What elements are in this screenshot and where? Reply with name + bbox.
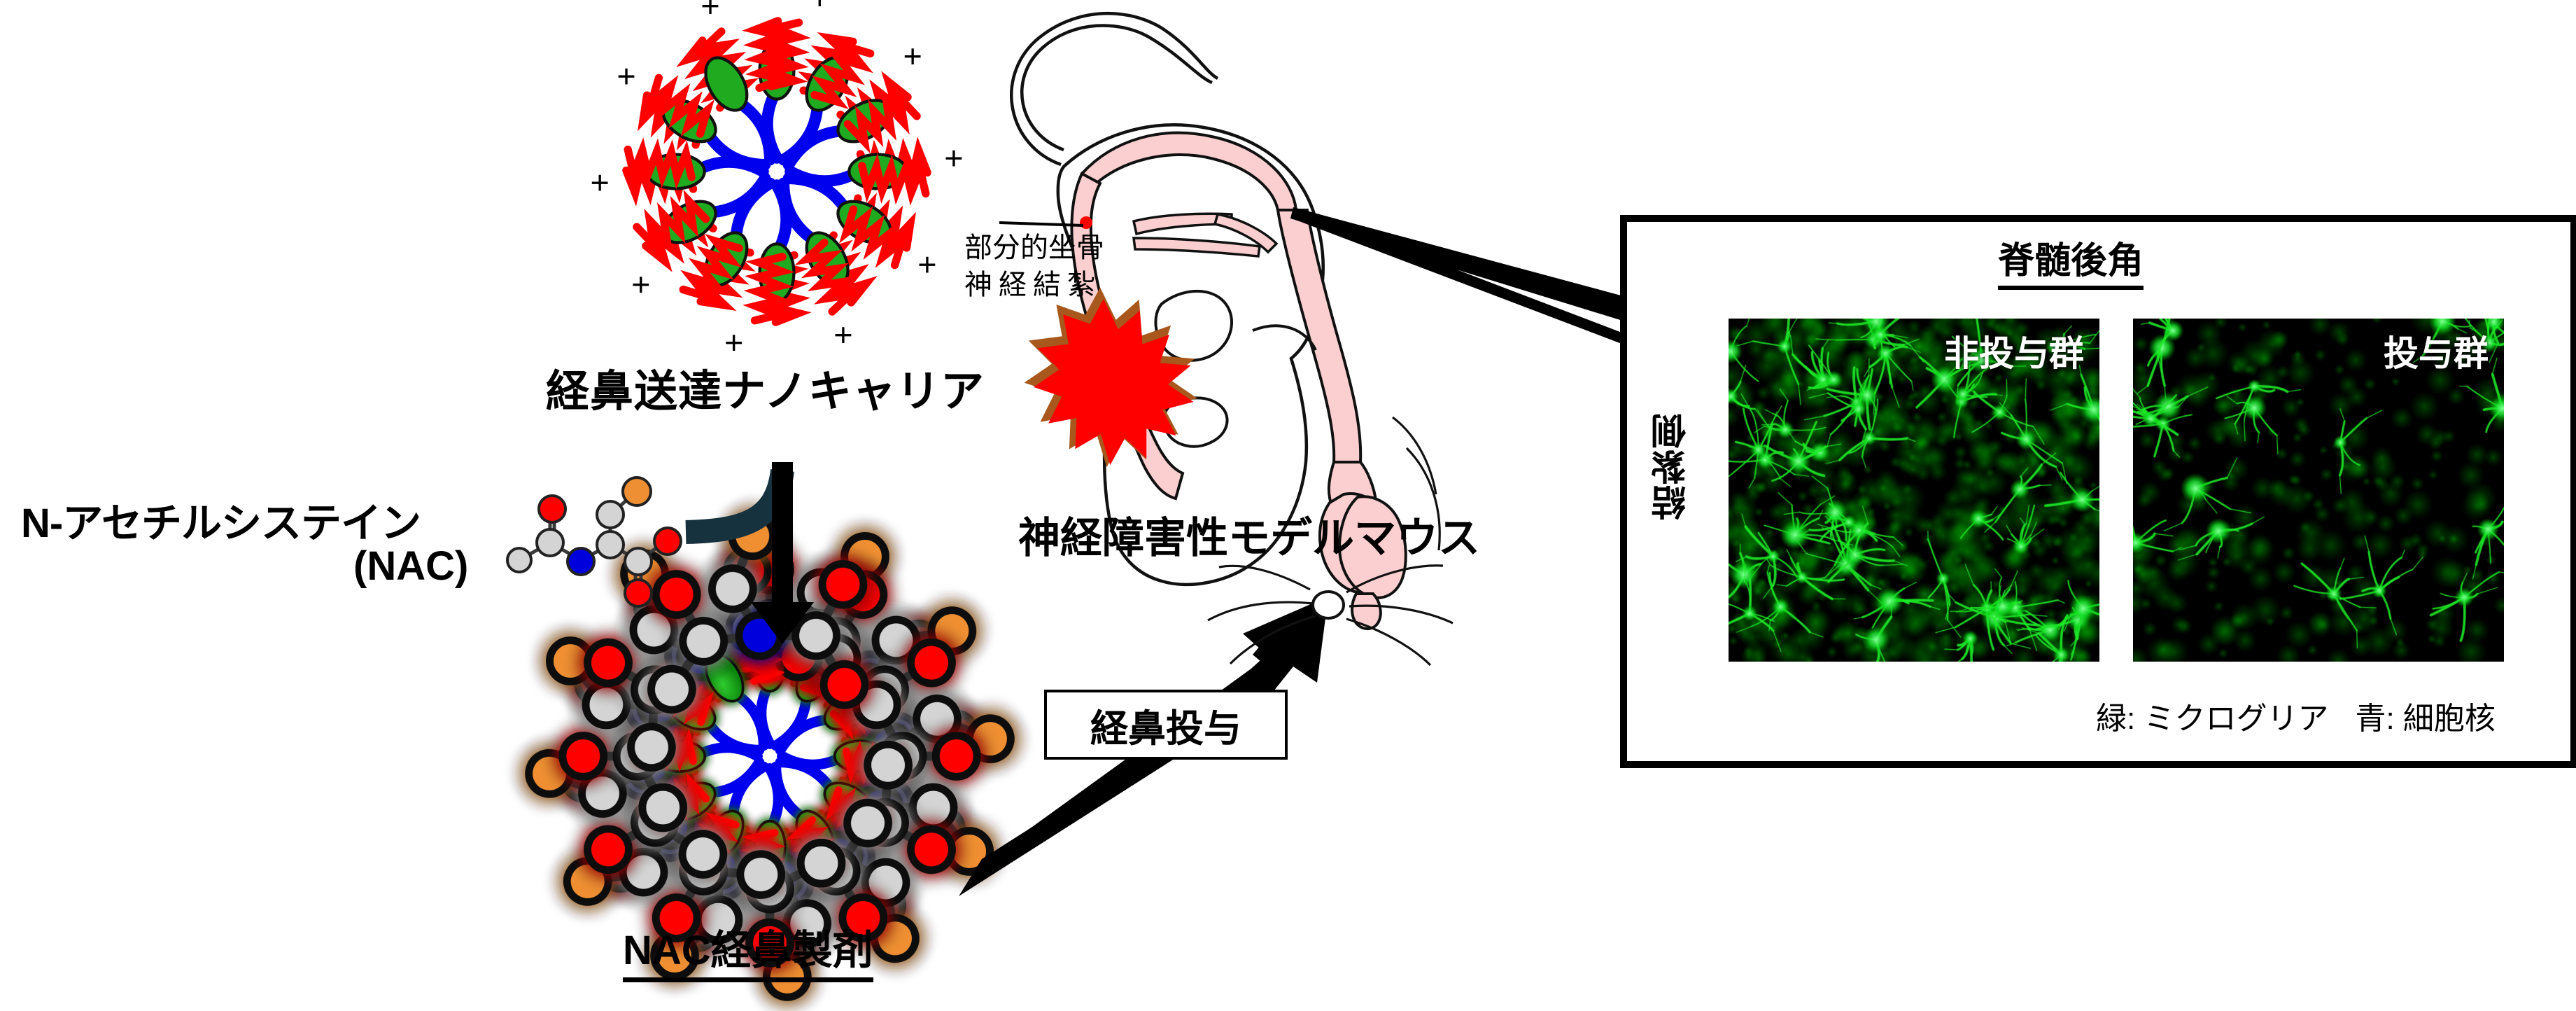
- micrograph-treated[interactable]: 投与群: [2133, 319, 2504, 662]
- atom-oxygen: [539, 496, 565, 522]
- nanocarrier-micelle-top: ++++++++++: [590, 0, 963, 361]
- hook-curve: [686, 470, 782, 532]
- micrograph-tag-treated: 投与群: [2384, 326, 2489, 376]
- model-mouse-illustration: [999, 13, 1453, 665]
- atom-oxygen: [654, 528, 681, 555]
- nac-name-label: N-アセチルシステイン: [21, 490, 421, 549]
- nanocarrier-label: 経鼻送達ナノキャリア: [546, 356, 985, 419]
- mouse-tail: [1022, 25, 1212, 150]
- nerve-branch-2: [1134, 238, 1260, 256]
- atom-carbon: [537, 529, 563, 556]
- atom-carbon: [597, 531, 624, 558]
- legend-blue-text: 青: 細胞核: [2355, 702, 2495, 736]
- atom-carbon: [625, 548, 652, 575]
- nasal-administration-box: 経鼻投与: [1044, 690, 1288, 760]
- spinal-cord-descending: [1278, 210, 1360, 462]
- nac-formulation-label: NAC経鼻製剤: [623, 917, 873, 982]
- ligation-site-marker: [1080, 216, 1092, 229]
- arrow-head: [1230, 597, 1328, 702]
- micrograph-untreated[interactable]: 非投与群: [1729, 319, 2099, 662]
- svg-text:+: +: [833, 316, 852, 353]
- svg-text:+: +: [617, 58, 635, 95]
- svg-text:+: +: [590, 165, 609, 201]
- ligation-leader-line: [999, 223, 1083, 225]
- atom-nitrogen: [568, 548, 594, 575]
- spinal-cord-ventral: [1071, 174, 1183, 498]
- loading-arrow: [686, 462, 814, 644]
- nac-abbrev-label: (NAC): [353, 543, 468, 590]
- svg-text:+: +: [631, 266, 650, 302]
- atom-sulfur: [623, 477, 651, 505]
- svg-text:+: +: [903, 38, 922, 74]
- svg-text:+: +: [701, 0, 719, 24]
- ligation-line-1: 部分的坐骨: [964, 230, 1104, 267]
- svg-text:+: +: [810, 0, 829, 16]
- nac-molecule-structure: [507, 477, 681, 606]
- svg-text:+: +: [917, 246, 936, 282]
- down-arrow: [751, 462, 814, 644]
- legend-green-text: 緑: ミクログリア: [2096, 702, 2328, 736]
- panel-title: 脊髄後角: [1998, 231, 2144, 290]
- mouse-ear: [1164, 398, 1227, 446]
- svg-text:+: +: [944, 139, 963, 176]
- nerve-branch-3: [1215, 214, 1276, 252]
- ligated-side-label: 結紮側: [1646, 413, 1696, 520]
- micrograph-legend: 緑: ミクログリア青: 細胞核: [2096, 693, 2496, 738]
- olfactory-bulb: [1352, 594, 1381, 629]
- pain-burst-icon: [1027, 291, 1194, 465]
- mouse-eye: [1155, 291, 1232, 361]
- nerve-branch-1: [1134, 214, 1232, 234]
- mouse-nose: [1313, 592, 1344, 618]
- atom-oxygen: [625, 580, 652, 606]
- model-mouse-label: 神経障害性モデルマウス: [1018, 504, 1480, 565]
- sciatic-ligation-label: 部分的坐骨 神経結紮: [964, 230, 1104, 304]
- connector-line-upper: [1292, 207, 1624, 344]
- micrograph-tag-untreated: 非投与群: [1944, 326, 2084, 376]
- atom-carbon: [597, 501, 624, 528]
- ligation-line-2: 神経結紮: [964, 267, 1104, 304]
- atom-carbon: [507, 548, 531, 572]
- spinal-cord-upper: [1082, 133, 1296, 210]
